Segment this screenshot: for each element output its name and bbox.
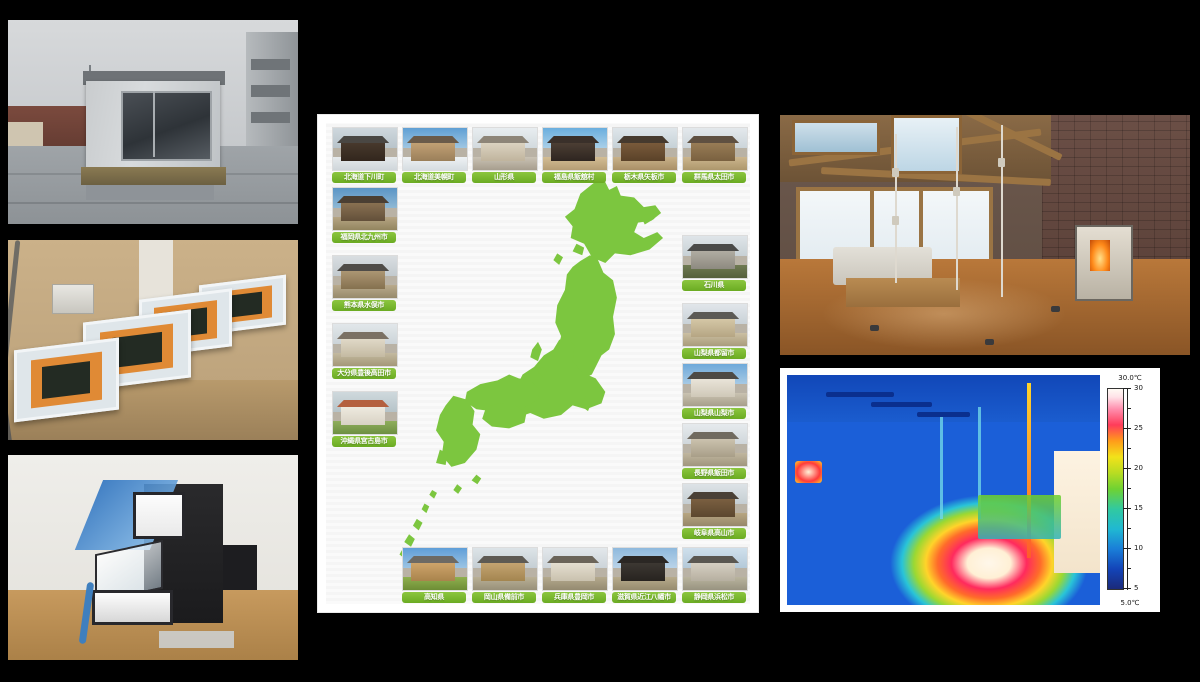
module-steel-base [81,167,226,185]
site-label: 山梨県都留市 [682,348,746,359]
site-tile-okinawa-miyakojima[interactable]: 沖縄県宮古島市 [332,391,396,447]
scale-tick-label-15: 15 [1134,504,1143,512]
site-label: 熊本県水俣市 [332,300,396,311]
photo-rooftop-test-module [8,20,298,224]
clerestory-window-2 [891,115,963,174]
apparatus-light-window [133,492,185,539]
module-window [121,91,212,160]
scale-tick-label-10: 10 [1134,544,1143,552]
photo-lab-insulation-panels [8,240,298,440]
photo-lab-solar-apparatus [8,455,298,660]
site-label: 北海道美幌町 [402,172,466,183]
instrument-box [52,284,95,314]
site-thumbnail [682,127,748,171]
site-thumbnail [612,547,678,591]
site-thumbnail [332,187,398,231]
site-label: 大分県豊後高田市 [332,368,396,379]
site-thumbnail [612,127,678,171]
site-tile-yamanashi-yamanashi[interactable]: 山梨県山梨市 [682,363,746,419]
apparatus-sample-tray [92,590,173,625]
site-label: 静岡県浜松市 [682,592,746,603]
scale-tick-25 [1123,428,1131,429]
scale-tick-10 [1123,548,1131,549]
apparatus-side-cabinet [223,545,258,590]
site-label: 山梨県山梨市 [682,408,746,419]
site-tile-yamanashi-tsuru[interactable]: 山梨県都留市 [682,303,746,359]
site-thumbnail [682,303,748,347]
scale-tick-30 [1123,388,1131,389]
scale-minor-tick-2 [1127,448,1131,449]
scale-axis [1127,388,1128,590]
scale-minor-tick-5 [1127,568,1131,569]
site-label: 北海道下川町 [332,172,396,183]
site-thumbnail [402,127,468,171]
low-table [846,278,961,307]
module-base-plate [86,185,214,199]
site-label: 高知県 [402,592,466,603]
scale-minor-tick-4 [1127,528,1131,529]
site-label: 岐阜県高山市 [682,528,746,539]
site-tile-hokkaido-bihoro[interactable]: 北海道美幌町 [402,127,466,183]
japan-site-map-panel: 北海道下川町 北海道美幌町 山形県 [318,115,758,612]
site-label: 沖縄県宮古島市 [332,436,396,447]
thermal-color-scale: 30.0℃ 30 25 20 15 10 5 5.0℃ [1100,368,1160,612]
sensor-string-3 [1001,125,1003,298]
floor-logger-3 [1051,306,1060,312]
floor-logger-2 [985,339,994,345]
site-label: 滋賀県近江八幡市 [612,592,676,603]
site-tile-nagano-iida[interactable]: 長野県飯田市 [682,423,746,479]
site-thumbnail [472,127,538,171]
scale-color-bar [1107,388,1124,590]
scale-tick-label-30: 30 [1134,384,1143,392]
site-tile-ishikawa[interactable]: 石川県 [682,235,746,291]
site-thumbnail [682,423,748,467]
japan-outline-map [368,161,716,565]
site-thumbnail [542,127,608,171]
site-thumbnail [332,255,398,299]
test-panel-1 [14,338,119,423]
window-mullion [153,91,155,156]
sensor-string-1 [895,134,897,283]
sensor-probe-2 [892,216,899,225]
scale-tick-label-25: 25 [1134,424,1143,432]
site-tile-gifu-takayama[interactable]: 岐阜県高山市 [682,483,746,539]
clerestory-window-1 [792,120,880,155]
site-thumbnail [332,391,398,435]
site-thumbnail [682,235,748,279]
deck-seam-1 [8,202,298,204]
site-label: 石川県 [682,280,746,291]
scale-min-label: 5.0℃ [1100,599,1160,607]
site-thumbnail [682,547,748,591]
floor-instruments [159,631,234,647]
site-tile-kochi[interactable]: 高知県 [402,547,466,603]
site-thumbnail [402,547,468,591]
scale-tick-label-20: 20 [1134,464,1143,472]
site-tile-fukuoka-kitakyushu[interactable]: 福岡県北九州市 [332,187,396,243]
scale-tick-20 [1123,468,1131,469]
site-tile-oita-bungotakada[interactable]: 大分県豊後高田市 [332,323,396,379]
site-tile-fukushima-iitate[interactable]: 福島県飯舘村 [542,127,606,183]
scale-tick-5 [1123,588,1131,589]
site-tile-tochigi-yaita[interactable]: 栃木県矢板市 [612,127,676,183]
site-thumbnail [332,323,398,367]
site-tile-shiga-omihachiman[interactable]: 滋賀県近江八幡市 [612,547,676,603]
scale-tick-label-5: 5 [1134,584,1138,592]
collage-stage: 北海道下川町 北海道美幌町 山形県 [0,0,1200,682]
site-tile-okayama-bizen[interactable]: 岡山県備前市 [472,547,536,603]
site-tile-shizuoka-hamamatsu[interactable]: 静岡県浜松市 [682,547,746,603]
site-thumbnail [332,127,398,171]
site-label: 群馬県太田市 [682,172,746,183]
sensor-string-2 [956,127,958,290]
site-tile-gunma-ota[interactable]: 群馬県太田市 [682,127,746,183]
sensor-probe-4 [998,158,1005,167]
site-tile-hyogo-toyooka[interactable]: 兵庫県豊岡市 [542,547,606,603]
site-label: 長野県飯田市 [682,468,746,479]
site-label: 福岡県北九州市 [332,232,396,243]
lab-curtain [139,240,174,300]
site-label: 兵庫県豊岡市 [542,592,606,603]
scale-tick-15 [1123,508,1131,509]
scale-minor-tick-1 [1127,408,1131,409]
site-thumbnail [472,547,538,591]
site-label: 栃木県矢板市 [612,172,676,183]
sensor-probe-1 [892,168,899,177]
photo-monitored-living-room [780,115,1190,355]
site-tile-yamagata[interactable]: 山形県 [472,127,536,183]
site-label: 岡山県備前市 [472,592,536,603]
scale-max-label: 30.0℃ [1100,374,1160,382]
site-tile-kumamoto-minamata[interactable]: 熊本県水俣市 [332,255,396,311]
site-tile-hokkaido-shimokawa[interactable]: 北海道下川町 [332,127,396,183]
stove-flame [1090,240,1111,271]
site-label: 山形県 [472,172,536,183]
sensor-probe-3 [953,187,960,196]
site-thumbnail [682,483,748,527]
floor-logger-1 [870,325,879,331]
site-thumbnail [682,363,748,407]
site-thumbnail [542,547,608,591]
site-label: 福島県飯舘村 [542,172,606,183]
map-canvas: 北海道下川町 北海道美幌町 山形県 [326,123,750,604]
scale-minor-tick-3 [1127,488,1131,489]
